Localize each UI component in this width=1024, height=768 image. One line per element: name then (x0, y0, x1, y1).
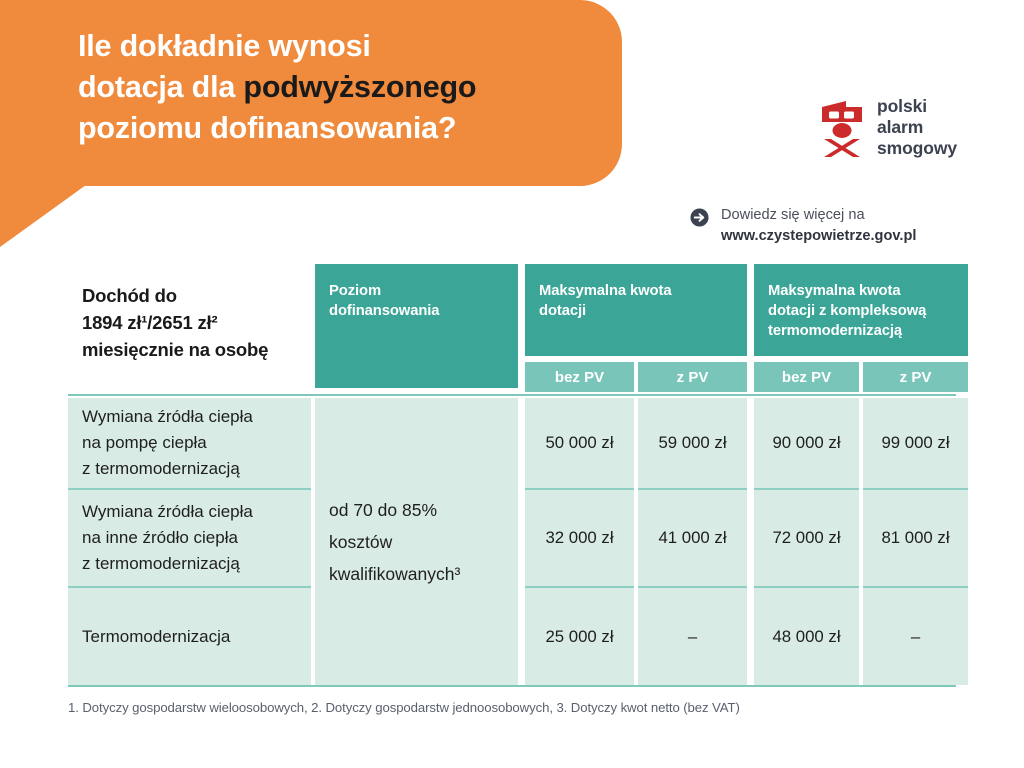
speech-bubble-tail (0, 185, 86, 247)
cell-z-pv-complex: 99 000 zł (863, 398, 968, 488)
complex-group-line-2: dotacji z kompleksową (768, 301, 956, 321)
column-header-level: Poziom dofinansowania (315, 264, 518, 388)
subheader-bez-pv-complex: bez PV (754, 362, 859, 392)
title-line-3: poziomu dofinansowania? (78, 108, 608, 149)
cell-bez-pv-grant: 32 000 zł (525, 490, 634, 586)
title-line-2-prefix: dotacja dla (78, 70, 243, 104)
table-header-row: Dochód do 1894 zł¹/2651 zł² miesięcznie … (68, 264, 956, 392)
column-gap (518, 398, 525, 685)
row-label-line-3: z termomodernizacją (82, 551, 253, 577)
row-label-line-1: Wymiana źródła ciepła (82, 404, 253, 430)
income-line-1: Dochód do (82, 282, 303, 309)
cell-bez-pv-complex: 48 000 zł (754, 588, 859, 685)
column-gap (747, 398, 754, 685)
header-gap (518, 264, 525, 392)
level-value-line-1: od 70 do 85% (329, 494, 460, 526)
title-line-2: dotacja dla podwyższonego (78, 67, 608, 108)
cell-bez-pv-complex: 90 000 zł (754, 398, 859, 488)
logo-line-3: smogowy (877, 138, 957, 159)
row-label-line-1: Termomodernizacja (82, 624, 230, 650)
cell-z-pv-complex: – (863, 588, 968, 685)
logo-line-1: polski (877, 96, 957, 117)
page-title: Ile dokładnie wynosi dotacja dla podwyżs… (78, 26, 608, 149)
level-value-line-2: kosztów (329, 526, 460, 558)
income-line-2: 1894 zł¹/2651 zł² (82, 309, 303, 336)
subheader-z-pv-complex: z PV (863, 362, 968, 392)
learn-more-url[interactable]: www.czystepowietrze.gov.pl (721, 226, 916, 247)
income-line-3: miesięcznie na osobę (82, 336, 303, 363)
cell-bez-pv-grant: 50 000 zł (525, 398, 634, 488)
column-group-header-max-grant-complex: Maksymalna kwota dotacji z kompleksową t… (754, 264, 968, 356)
header-divider (68, 394, 956, 396)
table-bottom-divider (68, 685, 956, 687)
grant-group-line-1: Maksymalna kwota (539, 281, 735, 301)
level-header-line-1: Poziom (329, 281, 506, 301)
logo-line-2: alarm (877, 117, 957, 138)
grant-group-line-2: dotacji (539, 301, 735, 321)
subheader-bez-pv-grant: bez PV (525, 362, 634, 392)
smog-alarm-logo-icon (820, 98, 864, 158)
table-row: Wymiana źródła ciepła na inne źródło cie… (68, 490, 311, 586)
complex-group-line-1: Maksymalna kwota (768, 281, 956, 301)
cell-z-pv-grant: 41 000 zł (638, 490, 747, 586)
row-label-line-3: z termomodernizacją (82, 456, 253, 482)
row-label-line-1: Wymiana źródła ciepła (82, 499, 253, 525)
brand-logo: polski alarm smogowy (820, 96, 957, 159)
cell-z-pv-grant: 59 000 zł (638, 398, 747, 488)
learn-more-label: Dowiedz się więcej na (721, 205, 916, 226)
cell-bez-pv-grant: 25 000 zł (525, 588, 634, 685)
title-line-1: Ile dokładnie wynosi (78, 26, 608, 67)
column-group-header-max-grant: Maksymalna kwota dotacji (525, 264, 747, 356)
task-label-column: Wymiana źródła ciepła na pompę ciepła z … (68, 398, 311, 685)
header-gap (747, 264, 754, 392)
learn-more-block[interactable]: Dowiedz się więcej na www.czystepowietrz… (690, 205, 916, 247)
footnote: 1. Dotyczy gospodarstw wieloosobowych, 2… (68, 700, 740, 715)
complex-group-line-3: termomodernizacją (768, 321, 956, 341)
row-label-line-2: na pompę ciepła (82, 430, 253, 456)
cell-z-pv-grant: – (638, 588, 747, 685)
subheader-z-pv-grant: z PV (638, 362, 747, 392)
cell-z-pv-complex: 81 000 zł (863, 490, 968, 586)
level-header-line-2: dofinansowania (329, 301, 506, 321)
table-body: Wymiana źródła ciepła na pompę ciepła z … (68, 398, 956, 685)
infographic-page: Ile dokładnie wynosi dotacja dla podwyżs… (0, 0, 1024, 768)
row-label-line-2: na inne źródło ciepła (82, 525, 253, 551)
table-row: Termomodernizacja (68, 588, 311, 685)
learn-more-text: Dowiedz się więcej na www.czystepowietrz… (721, 205, 916, 247)
logo-wordmark: polski alarm smogowy (877, 96, 957, 159)
title-line-2-highlight: podwyższonego (243, 70, 476, 104)
cell-bez-pv-complex: 72 000 zł (754, 490, 859, 586)
level-value-line-3: kwalifikowanych³ (329, 558, 460, 590)
arrow-right-circle-icon (690, 208, 709, 232)
funding-level-merged-cell: od 70 do 85% kosztów kwalifikowanych³ (315, 398, 518, 685)
table-row: Wymiana źródła ciepła na pompę ciepła z … (68, 398, 311, 488)
subsidy-table: Dochód do 1894 zł¹/2651 zł² miesięcznie … (68, 264, 956, 687)
income-threshold-header: Dochód do 1894 zł¹/2651 zł² miesięcznie … (68, 264, 311, 392)
